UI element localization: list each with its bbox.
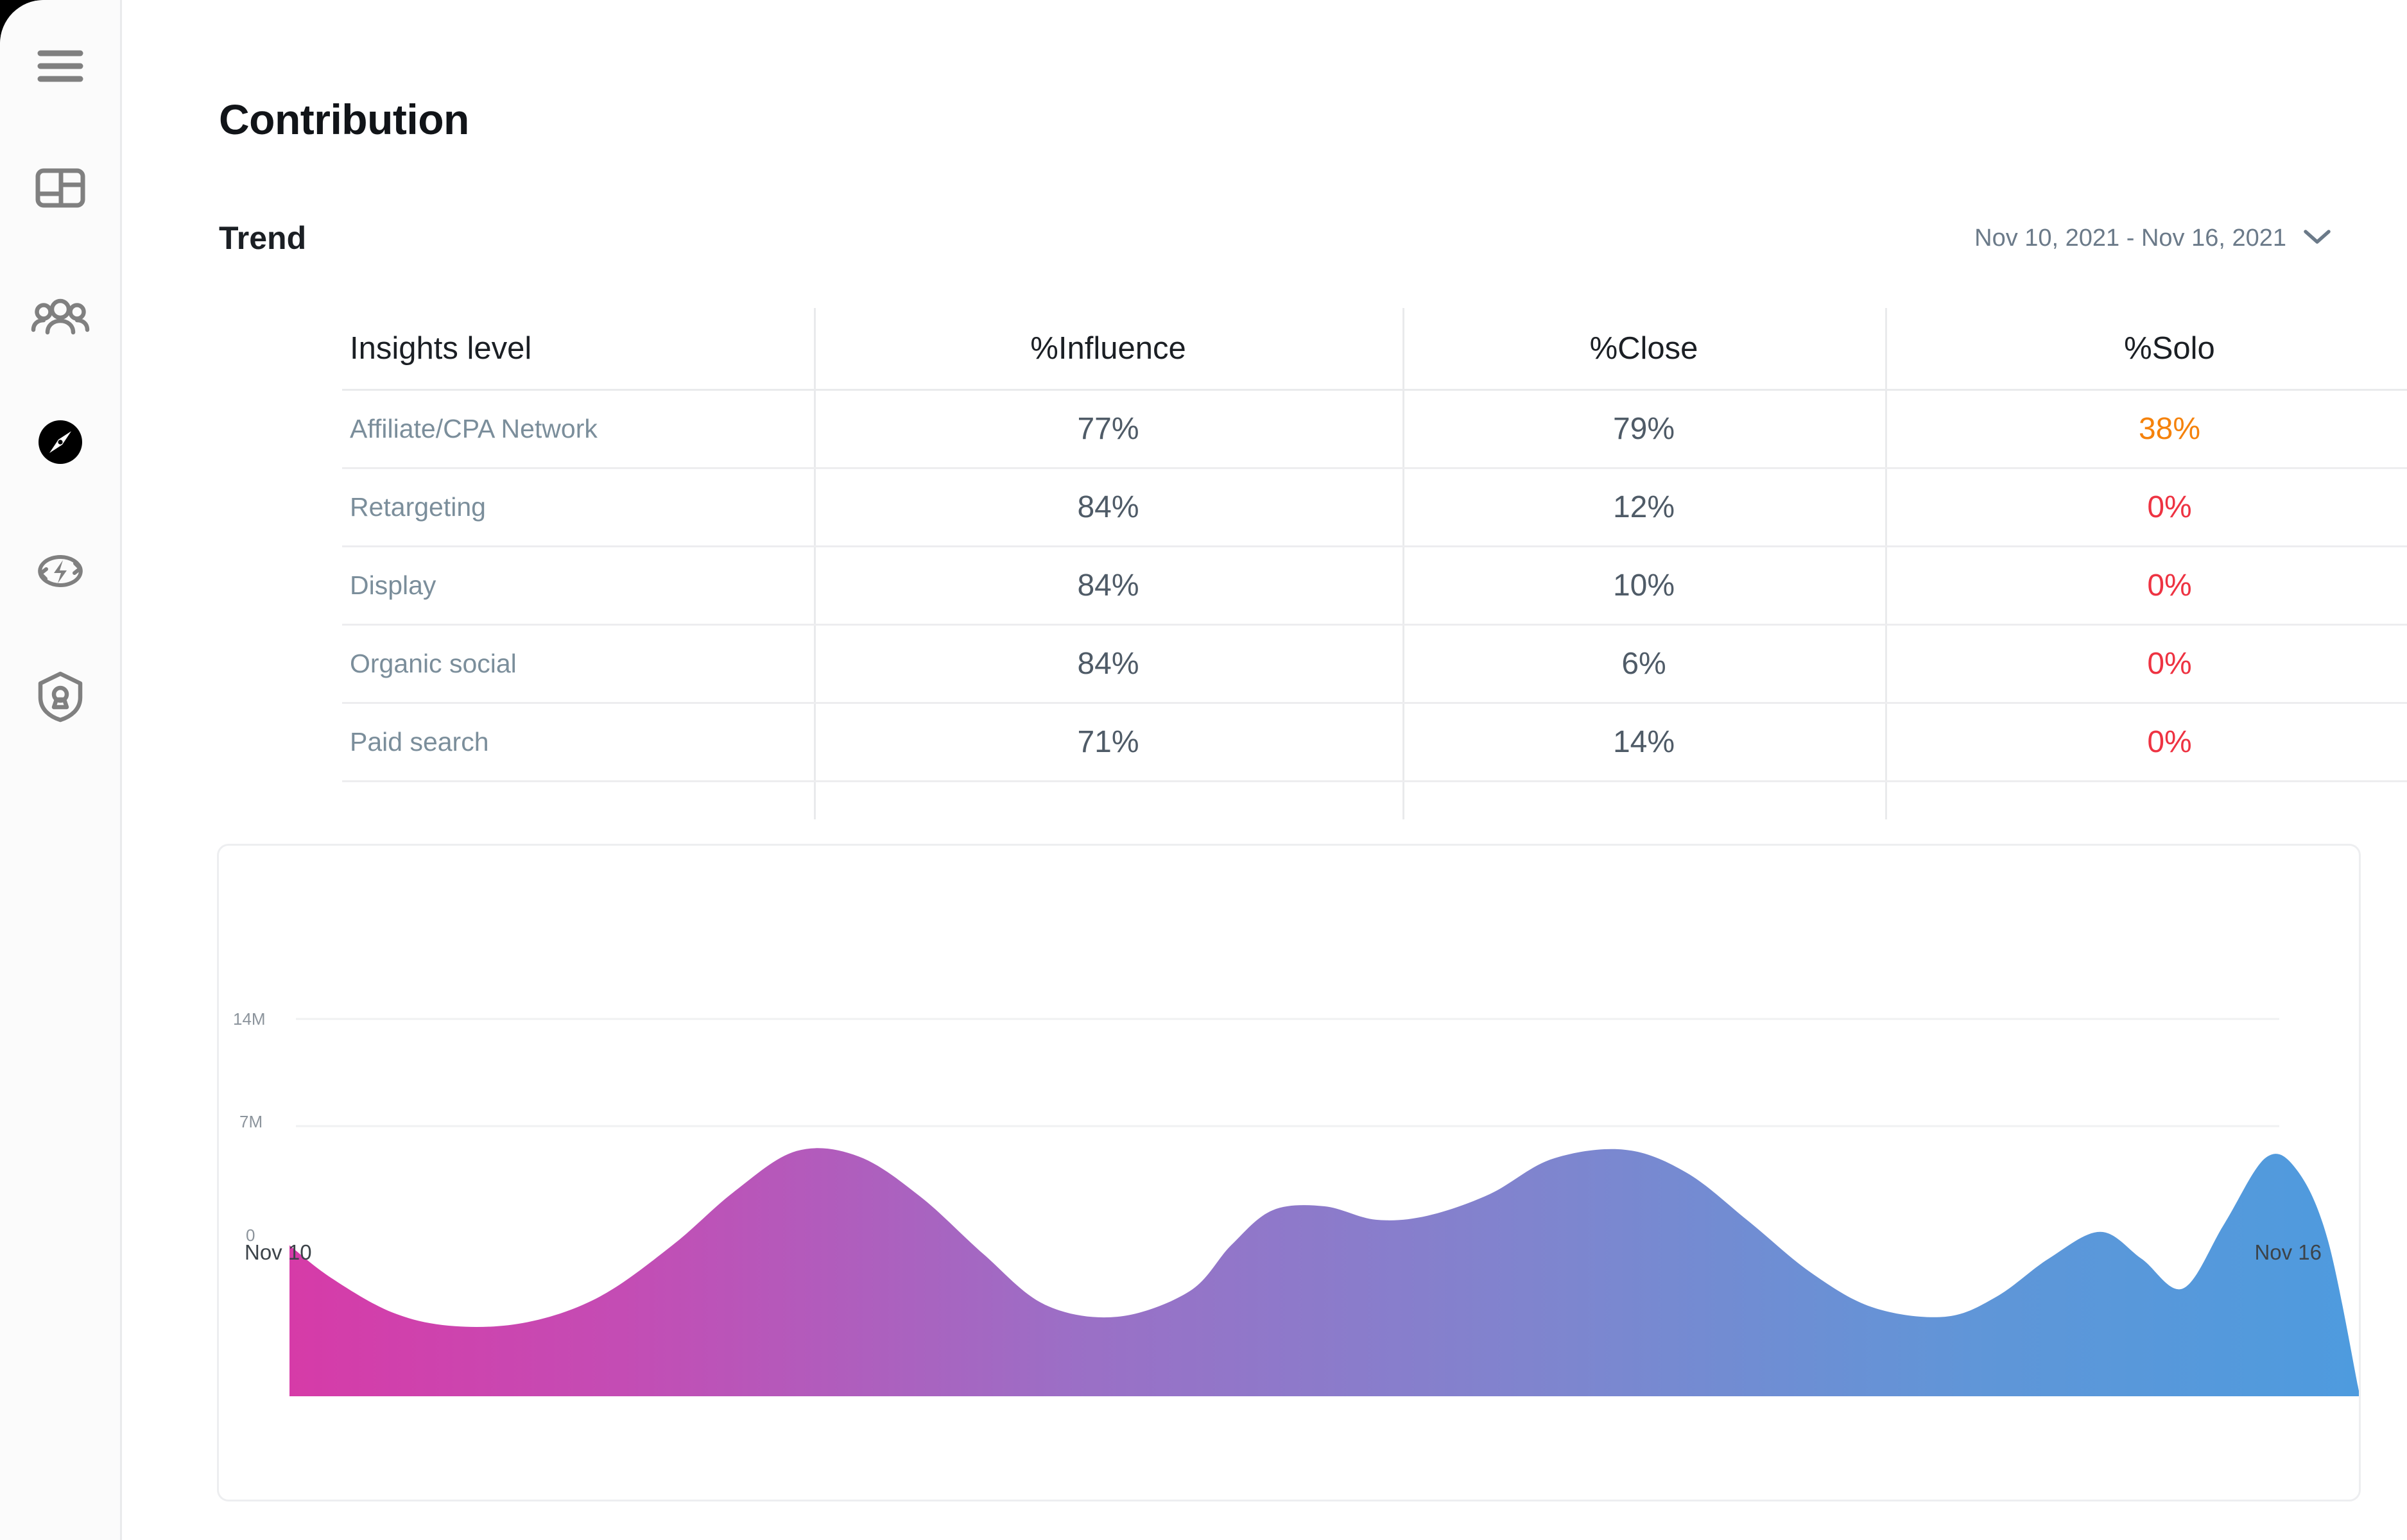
- close-value: 12%: [1613, 490, 1675, 525]
- row-label: Affiliate/CPA Network: [350, 414, 598, 444]
- close-value: 6%: [1621, 646, 1666, 681]
- trend-chart-card: 14M 7M 0 Nov 10 Nov 16: [217, 844, 2361, 1502]
- main-content: Contribution Trend Nov 10, 2021 - Nov 16…: [124, 0, 2407, 1540]
- dashboard-icon: [35, 167, 86, 209]
- date-range-label: Nov 10, 2021 - Nov 16, 2021: [1974, 225, 2286, 252]
- row-label: Retargeting: [350, 492, 486, 522]
- column-header-label: Insights level: [350, 330, 531, 366]
- sidebar-nav: [0, 0, 122, 1540]
- shield-lock-icon: [35, 670, 85, 723]
- close-value: 14%: [1613, 724, 1675, 760]
- table-cell-influence: [814, 782, 1402, 819]
- date-range-selector[interactable]: Nov 10, 2021 - Nov 16, 2021: [1974, 225, 2331, 252]
- table-cell-label: Organic social: [342, 626, 814, 702]
- table-cell-label: Display: [342, 547, 814, 624]
- x-axis-label-end: Nov 16: [2254, 1240, 2322, 1265]
- section-title: Trend: [219, 219, 306, 257]
- table-cell-close: 12%: [1402, 469, 1885, 545]
- table-header-cell-solo[interactable]: %Solo: [1885, 308, 2407, 389]
- close-value: 10%: [1613, 568, 1675, 603]
- column-header-label: %Influence: [1030, 330, 1186, 366]
- menu-icon: [37, 48, 84, 84]
- trend-area-chart[interactable]: [219, 846, 2361, 1502]
- table-cell-influence: 84%: [814, 469, 1402, 545]
- sidebar-item-dashboard[interactable]: [19, 146, 102, 230]
- table-cell-label: Affiliate/CPA Network: [342, 391, 814, 467]
- solo-value: 0%: [2147, 490, 2191, 525]
- table-row[interactable]: Display 84% 10% 0%: [342, 547, 2407, 624]
- row-label: Paid search: [350, 727, 489, 757]
- table-cell-solo: 0%: [1885, 704, 2407, 780]
- table-cell-influence: 84%: [814, 626, 1402, 702]
- y-axis-label-14m: 14M: [233, 1009, 266, 1029]
- solo-value: 0%: [2147, 724, 2191, 760]
- row-label: Organic social: [350, 649, 517, 679]
- row-label: Display: [350, 570, 436, 601]
- app-window: Contribution Trend Nov 10, 2021 - Nov 16…: [0, 0, 2407, 1540]
- trend-table: Insights level %Influence %Close %Solo A…: [342, 308, 2407, 819]
- table-header-cell-close[interactable]: %Close: [1402, 308, 1885, 389]
- y-axis-label-7m: 7M: [239, 1112, 263, 1132]
- table-cell-close: 79%: [1402, 391, 1885, 467]
- column-header-label: %Solo: [2124, 330, 2215, 366]
- table-header-cell-influence[interactable]: %Influence: [814, 308, 1402, 389]
- sidebar-item-audiences[interactable]: [19, 275, 102, 358]
- table-cell-solo: 38%: [1885, 391, 2407, 467]
- table-row[interactable]: Organic social 84% 6% 0%: [342, 626, 2407, 702]
- table-row[interactable]: Retargeting 84% 12% 0%: [342, 469, 2407, 545]
- table-cell-label: Paid search: [342, 704, 814, 780]
- table-cell-solo: [1885, 782, 2407, 819]
- close-value: 79%: [1613, 411, 1675, 447]
- activation-icon: [33, 547, 88, 594]
- compass-icon: [36, 418, 85, 466]
- x-axis-label-start: Nov 10: [245, 1240, 312, 1265]
- column-header-label: %Close: [1590, 330, 1698, 366]
- table-cell-solo: 0%: [1885, 469, 2407, 545]
- chevron-down-icon[interactable]: [2303, 228, 2331, 248]
- sidebar-item-menu[interactable]: [19, 24, 102, 108]
- table-cell-influence: 77%: [814, 391, 1402, 467]
- table-cell-influence: 71%: [814, 704, 1402, 780]
- influence-value: 84%: [1077, 646, 1139, 681]
- table-cell-label: [342, 782, 814, 819]
- table-cell-solo: 0%: [1885, 547, 2407, 624]
- sidebar-item-insights[interactable]: [19, 400, 102, 484]
- area-series-path: [289, 1148, 2359, 1396]
- table-row[interactable]: Affiliate/CPA Network 77% 79% 38%: [342, 391, 2407, 467]
- solo-value: 0%: [2147, 568, 2191, 603]
- solo-value: 38%: [2139, 411, 2200, 447]
- influence-value: 71%: [1077, 724, 1139, 760]
- influence-value: 84%: [1077, 568, 1139, 603]
- sidebar-item-activation[interactable]: [19, 529, 102, 612]
- influence-value: 77%: [1077, 411, 1139, 447]
- table-row-partial: [342, 782, 2407, 819]
- table-row[interactable]: Paid search 71% 14% 0%: [342, 704, 2407, 780]
- table-cell-solo: 0%: [1885, 626, 2407, 702]
- table-cell-influence: 84%: [814, 547, 1402, 624]
- sidebar-item-privacy[interactable]: [19, 654, 102, 738]
- table-cell-close: 10%: [1402, 547, 1885, 624]
- table-cell-close: 14%: [1402, 704, 1885, 780]
- table-cell-label: Retargeting: [342, 469, 814, 545]
- table-cell-close: [1402, 782, 1885, 819]
- table-header-cell-insights-level[interactable]: Insights level: [342, 308, 814, 389]
- table-header-row: Insights level %Influence %Close %Solo: [342, 308, 2407, 389]
- people-icon: [31, 296, 90, 336]
- table-cell-close: 6%: [1402, 626, 1885, 702]
- solo-value: 0%: [2147, 646, 2191, 681]
- page-title: Contribution: [219, 95, 469, 144]
- influence-value: 84%: [1077, 490, 1139, 525]
